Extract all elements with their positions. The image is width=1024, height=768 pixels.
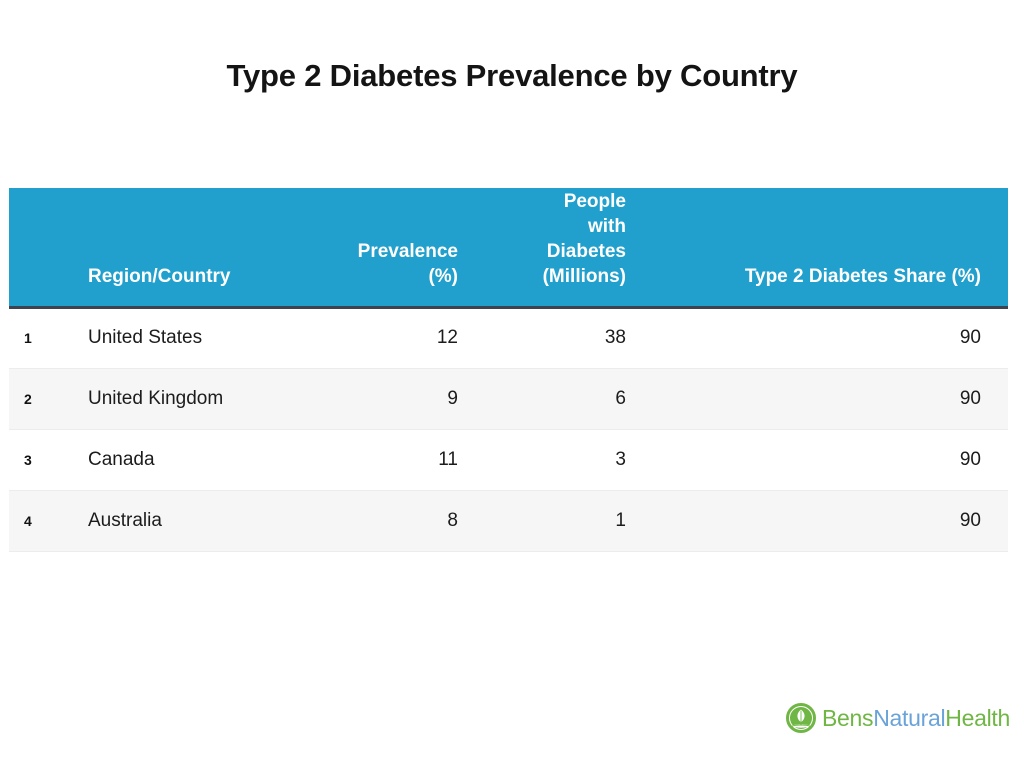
column-header-type2-share-line1: Type 2 Diabetes Share (%) bbox=[745, 266, 981, 287]
column-header-people-line3: Diabetes bbox=[547, 241, 626, 262]
column-header-prevalence-line1: Prevalence bbox=[358, 241, 458, 262]
table-header: Region/Country Prevalence (%) People wit… bbox=[9, 188, 1008, 307]
table-row[interactable]: 3 Canada 11 3 90 bbox=[9, 429, 1008, 490]
cell-prevalence: 9 bbox=[337, 368, 461, 429]
cell-region-country: Australia bbox=[79, 490, 337, 551]
cell-people-millions: 3 bbox=[461, 429, 629, 490]
column-header-people-line1: People bbox=[564, 191, 626, 212]
brand-word-health: Health bbox=[945, 705, 1010, 731]
diabetes-prevalence-table: Region/Country Prevalence (%) People wit… bbox=[9, 188, 1008, 552]
page-title: Type 2 Diabetes Prevalence by Country bbox=[0, 56, 1024, 96]
cell-region-country: United Kingdom bbox=[79, 368, 337, 429]
leaf-in-circle-icon bbox=[786, 703, 816, 733]
column-header-people-line4: (Millions) bbox=[543, 266, 626, 287]
column-header-people-line2: with bbox=[588, 216, 626, 237]
column-header-people-with-diabetes[interactable]: People with Diabetes (Millions) bbox=[461, 188, 629, 307]
cell-type2-share: 90 bbox=[629, 429, 1008, 490]
column-header-prevalence[interactable]: Prevalence (%) bbox=[337, 188, 461, 307]
cell-type2-share: 90 bbox=[629, 368, 1008, 429]
column-header-region-country[interactable]: Region/Country bbox=[79, 188, 337, 307]
cell-prevalence: 11 bbox=[337, 429, 461, 490]
data-table-container: Region/Country Prevalence (%) People wit… bbox=[9, 188, 1008, 552]
brand-logo[interactable]: BensNaturalHealth bbox=[786, 703, 1010, 733]
table-body: 1 United States 12 38 90 2 United Kingdo… bbox=[9, 307, 1008, 551]
row-index: 4 bbox=[9, 490, 79, 551]
cell-type2-share: 90 bbox=[629, 490, 1008, 551]
column-header-type2-share[interactable]: Type 2 Diabetes Share (%) bbox=[629, 188, 1008, 307]
cell-region-country: United States bbox=[79, 307, 337, 368]
table-row[interactable]: 4 Australia 8 1 90 bbox=[9, 490, 1008, 551]
cell-type2-share: 90 bbox=[629, 307, 1008, 368]
table-row[interactable]: 1 United States 12 38 90 bbox=[9, 307, 1008, 368]
brand-word-bens: Bens bbox=[822, 705, 873, 731]
column-header-region-country-line1: Region/Country bbox=[88, 266, 231, 287]
row-index: 2 bbox=[9, 368, 79, 429]
column-header-index bbox=[9, 188, 79, 307]
row-index: 3 bbox=[9, 429, 79, 490]
cell-people-millions: 6 bbox=[461, 368, 629, 429]
cell-people-millions: 38 bbox=[461, 307, 629, 368]
cell-prevalence: 12 bbox=[337, 307, 461, 368]
column-header-prevalence-line2: (%) bbox=[428, 266, 458, 287]
cell-people-millions: 1 bbox=[461, 490, 629, 551]
row-index: 1 bbox=[9, 307, 79, 368]
cell-region-country: Canada bbox=[79, 429, 337, 490]
table-header-row: Region/Country Prevalence (%) People wit… bbox=[9, 188, 1008, 307]
brand-word-natural: Natural bbox=[873, 705, 945, 731]
table-row[interactable]: 2 United Kingdom 9 6 90 bbox=[9, 368, 1008, 429]
cell-prevalence: 8 bbox=[337, 490, 461, 551]
brand-wordmark: BensNaturalHealth bbox=[822, 703, 1010, 733]
